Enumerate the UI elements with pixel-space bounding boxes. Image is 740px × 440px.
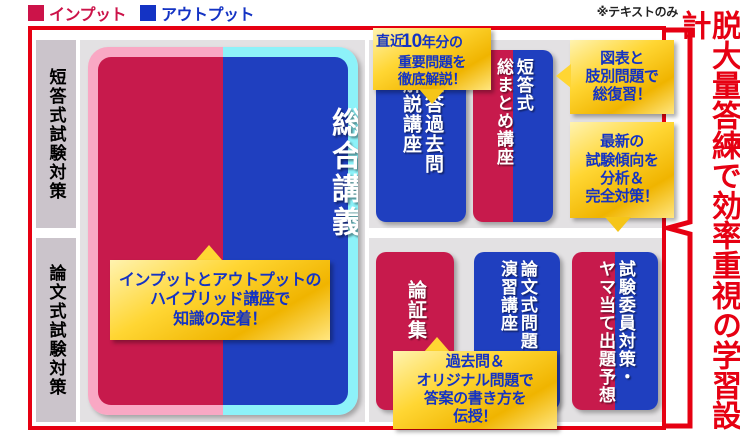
course-ronbun-enshu-col-1: 論文式問題 <box>518 260 536 350</box>
callout-matome-line-1: 図表と <box>600 50 644 68</box>
callout-shiken-line-4: 完全対策！ <box>585 188 658 206</box>
callout-kakomon-emphasis: 10 <box>401 31 421 52</box>
sogo-callout-tail <box>196 245 222 260</box>
callout-matome: 図表と 肢別問題で 総復習！ <box>570 40 674 114</box>
callout-shiken-line-2: 試験傾向を <box>585 152 658 170</box>
legend-label-input: インプット <box>49 1 126 25</box>
course-shiken-iin-col-2: ヤマ当て出題予想 <box>596 260 614 404</box>
category-ronbun-label: 論文式試験対策 <box>48 264 65 397</box>
callout-enshu: 過去問＆ オリジナル問題で 答案の書き方を 伝授！ <box>393 351 557 429</box>
sogo-callout-line-3: 知識の定着！ <box>173 310 267 330</box>
output-color-swatch <box>140 5 156 21</box>
infographic-root: インプット アウトプット ※テキストのみ 短答式試験対策 論文式試験対策 総合講… <box>0 0 740 440</box>
category-ronbun: 論文式試験対策 <box>36 238 76 422</box>
callout-kakomon-line-1-rest: 年分の <box>422 34 463 50</box>
callout-shiken-line-1: 最新の <box>600 133 644 151</box>
callout-kakomon-line-2: 重要問題を <box>398 54 466 71</box>
callout-enshu-line-1: 過去問＆ <box>446 353 504 371</box>
course-sogo-kogi[interactable]: 総合講義 <box>88 47 358 415</box>
callout-kakomon-line-3: 徹底解説！ <box>398 71 466 88</box>
legend-label-output: アウトプット <box>161 1 254 25</box>
callout-enshu-line-2: オリジナル問題で <box>417 372 534 390</box>
course-ronbun-enshu-col-2: 演習講座 <box>498 260 516 332</box>
legend-item-output: アウトプット <box>140 1 254 25</box>
callout-enshu-line-3: 答案の書き方を <box>424 390 526 408</box>
course-shiken-iin-col-1: 試験委員対策・ <box>616 260 634 386</box>
callout-shiken: 最新の 試験傾向を 分析＆ 完全対策！ <box>570 122 674 218</box>
callout-kakomon-prefix: 直近 <box>376 31 404 51</box>
sogo-callout-line-1: インプットとアウトプットの <box>119 271 321 291</box>
legend-item-input: インプット <box>28 1 126 25</box>
course-sogo-kogi-title: 総合講義 <box>88 107 358 239</box>
course-tantou-matome-col-1: 短答式 <box>514 58 532 112</box>
category-tantou-label: 短答式試験対策 <box>48 68 65 201</box>
callout-shiken-line-3: 分析＆ <box>600 170 644 188</box>
course-tantou-matome-col-2: 総まとめ講座 <box>494 58 512 166</box>
text-only-note: ※テキストのみ <box>597 3 678 20</box>
sogo-callout-line-2: ハイブリッド講座で <box>150 290 290 310</box>
legend: インプット アウトプット <box>28 2 254 24</box>
category-tantou: 短答式試験対策 <box>36 40 76 228</box>
course-ronshoshu-col-1: 論証集 <box>405 280 425 340</box>
callout-enshu-line-4: 伝授！ <box>453 408 497 426</box>
callout-shiken-tail <box>605 217 631 232</box>
headline-text: 脱大量答練で効率重視の学習設計 <box>694 10 738 438</box>
callout-matome-tail <box>556 64 571 88</box>
input-color-swatch <box>28 5 44 21</box>
course-shiken-iin-text: 試験委員対策・ ヤマ当て出題予想 <box>572 252 658 410</box>
callout-enshu-tail <box>424 337 450 352</box>
callout-kakomon-tail <box>419 89 445 104</box>
callout-matome-line-2: 肢別問題で <box>585 68 658 86</box>
course-shiken-iin[interactable]: 試験委員対策・ ヤマ当て出題予想 <box>572 252 658 410</box>
callout-kakomon-line-1: 10年分の <box>401 30 462 53</box>
callout-matome-line-3: 総復習！ <box>593 86 651 104</box>
sogo-callout: インプットとアウトプットの ハイブリッド講座で 知識の定着！ <box>110 260 330 340</box>
